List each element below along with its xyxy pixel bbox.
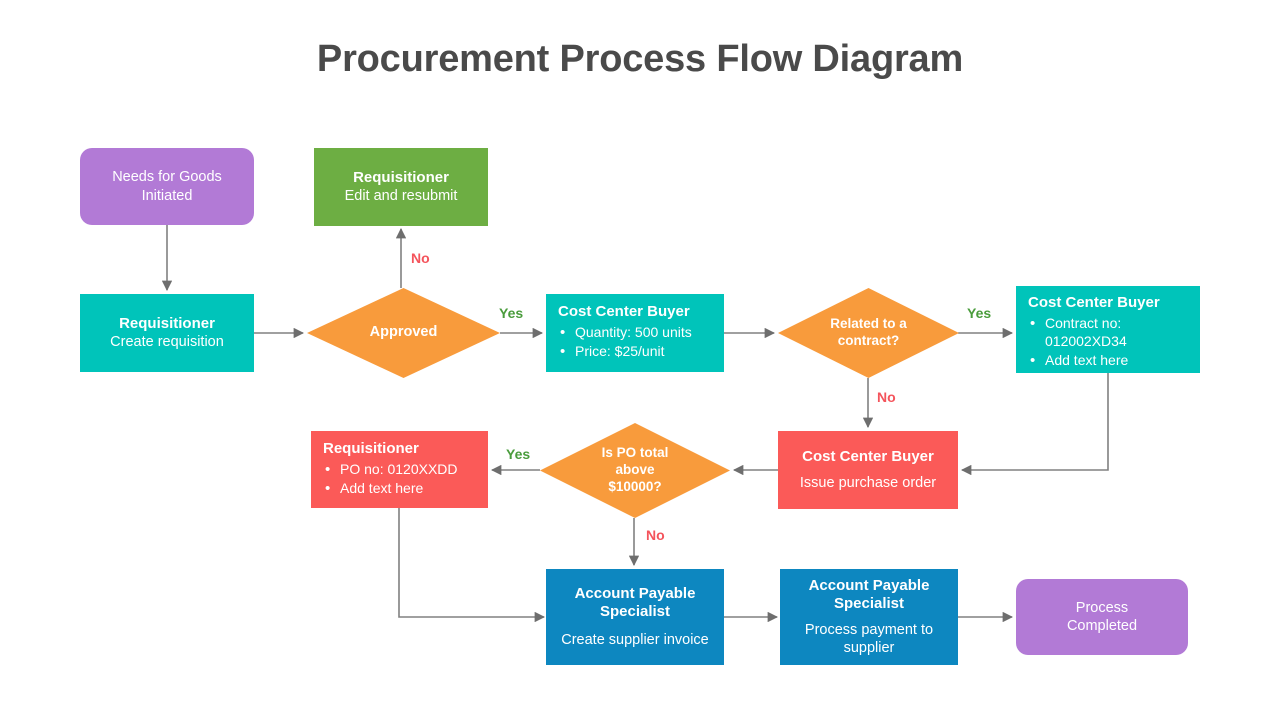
edge-label-contract-no: No <box>877 389 896 405</box>
node-create-requisition-title: Requisitioner <box>119 315 215 333</box>
node-po-total-label: Is PO total above $10000? <box>594 445 677 495</box>
bullet-item: PO no: 0120XXDD <box>323 461 480 479</box>
bullet-item: Quantity: 500 units <box>558 324 714 342</box>
bullet-item: Contract no: 012002XD34 <box>1028 315 1192 351</box>
bullet-item: Add text here <box>1028 352 1192 370</box>
node-process-payment-title: Account Payable Specialist <box>809 577 930 614</box>
node-cost-center-buyer-quantity-title: Cost Center Buyer <box>558 303 714 321</box>
node-process-completed-line2: Completed <box>1067 617 1137 635</box>
node-process-completed-line1: Process <box>1076 599 1128 617</box>
node-process-payment-subtitle: Process payment to supplier <box>805 621 933 657</box>
node-process-payment[interactable]: Account Payable Specialist Process payme… <box>780 569 958 665</box>
node-related-to-contract-decision[interactable]: Related to a contract? <box>778 288 959 378</box>
node-needs-for-goods[interactable]: Needs for Goods Initiated <box>80 148 254 225</box>
node-edit-and-resubmit-subtitle: Edit and resubmit <box>345 187 458 205</box>
edge-requisitioner-to-create-invoice <box>399 508 544 617</box>
edge-label-contract-yes: Yes <box>967 305 991 321</box>
node-approved-label: Approved <box>362 324 446 342</box>
node-create-supplier-invoice-title: Account Payable Specialist <box>575 585 696 622</box>
node-cost-center-buyer-quantity[interactable]: Cost Center Buyer Quantity: 500 units Pr… <box>546 294 724 372</box>
node-create-requisition-subtitle: Create requisition <box>110 333 224 351</box>
node-issue-purchase-order[interactable]: Cost Center Buyer Issue purchase order <box>778 431 958 509</box>
node-cost-center-buyer-contract[interactable]: Cost Center Buyer Contract no: 012002XD3… <box>1016 286 1200 373</box>
node-edit-and-resubmit[interactable]: Requisitioner Edit and resubmit <box>314 148 488 226</box>
node-create-supplier-invoice[interactable]: Account Payable Specialist Create suppli… <box>546 569 724 665</box>
node-needs-for-goods-line1: Needs for Goods <box>112 168 222 186</box>
edge-label-approved-no: No <box>411 250 430 266</box>
node-po-total-decision[interactable]: Is PO total above $10000? <box>540 423 730 518</box>
node-cost-center-buyer-quantity-bullets: Quantity: 500 units Price: $25/unit <box>558 324 714 362</box>
node-create-supplier-invoice-subtitle: Create supplier invoice <box>561 631 709 649</box>
node-related-to-contract-label: Related to a contract? <box>822 316 915 349</box>
node-edit-and-resubmit-title: Requisitioner <box>353 169 449 187</box>
edge-costcenter-contract-to-issue-po <box>962 373 1108 470</box>
node-requisitioner-po[interactable]: Requisitioner PO no: 0120XXDD Add text h… <box>311 431 488 508</box>
edge-label-po-no: No <box>646 527 665 543</box>
edge-label-po-yes: Yes <box>506 446 530 462</box>
diagram-canvas: Procurement Process Flow Diagram <box>0 0 1280 720</box>
node-process-completed[interactable]: Process Completed <box>1016 579 1188 655</box>
bullet-item: Add text here <box>323 480 480 498</box>
node-cost-center-buyer-contract-title: Cost Center Buyer <box>1028 294 1192 312</box>
node-requisitioner-po-bullets: PO no: 0120XXDD Add text here <box>323 461 480 499</box>
node-needs-for-goods-line2: Initiated <box>142 187 193 205</box>
bullet-item: Price: $25/unit <box>558 343 714 361</box>
edge-label-approved-yes: Yes <box>499 305 523 321</box>
node-requisitioner-po-title: Requisitioner <box>323 440 480 458</box>
node-approved-decision[interactable]: Approved <box>307 288 500 378</box>
node-create-requisition[interactable]: Requisitioner Create requisition <box>80 294 254 372</box>
node-cost-center-buyer-contract-bullets: Contract no: 012002XD34 Add text here <box>1028 315 1192 371</box>
node-issue-purchase-order-subtitle: Issue purchase order <box>800 474 936 492</box>
node-issue-purchase-order-title: Cost Center Buyer <box>802 448 934 466</box>
